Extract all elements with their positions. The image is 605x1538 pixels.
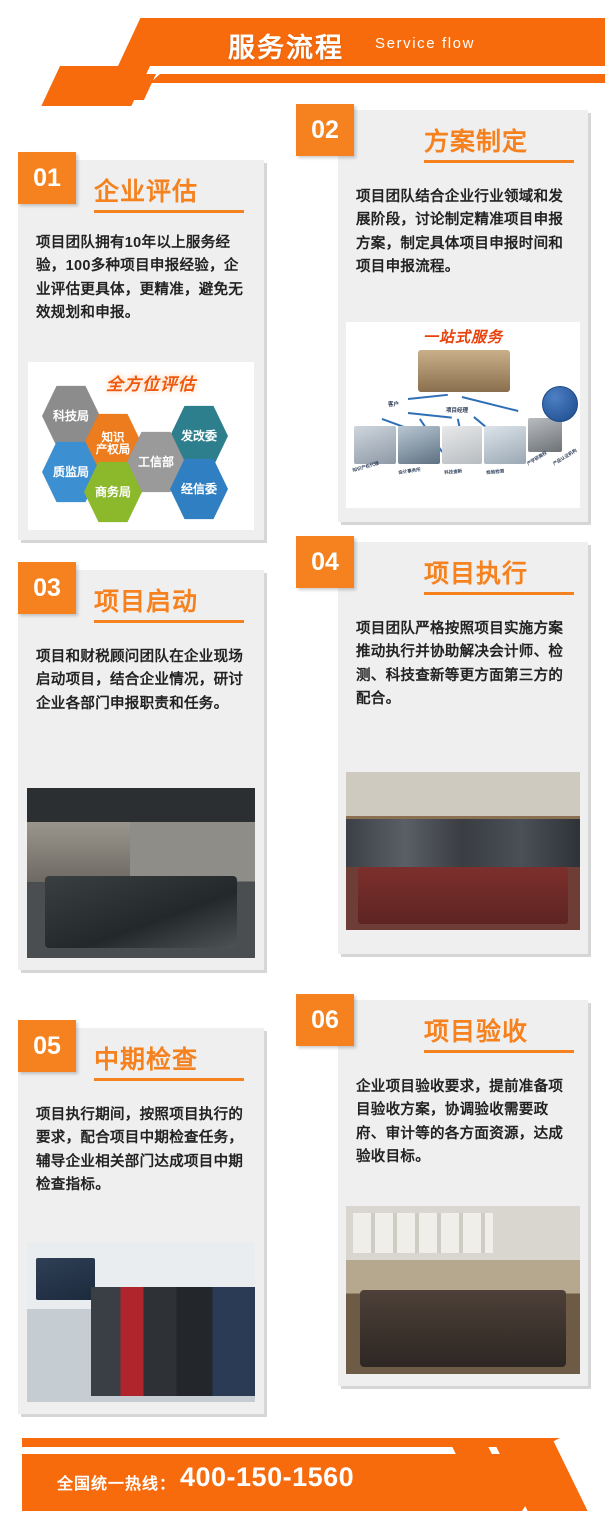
card-body-06: 企业项目验收要求，提前准备项目验收方案，协调验收需要政府、审计等的各方面资源，达…: [356, 1076, 572, 1170]
one-stop-caption-4: 产学研高校: [526, 450, 548, 467]
header-underbar-slant: [84, 74, 156, 100]
one-stop-client-label: 客户: [388, 400, 399, 408]
meeting-room-photo: [27, 788, 255, 958]
one-stop-caption-3: 检验检测: [486, 468, 504, 476]
card-title-rule-01: [94, 210, 244, 213]
one-stop-tile-2: [442, 426, 482, 464]
card-body-05: 项目执行期间，按照项目执行的要求，配合项目中期检查任务，辅导企业相关部门达成项目…: [36, 1104, 248, 1198]
one-stop-center-photo: [418, 350, 510, 392]
one-stop-arrow-2: [462, 396, 519, 412]
hotline-label: 全国统一热线：: [57, 1470, 176, 1494]
step-card-04[interactable]: 项目执行 项目团队严格按照项目实施方案推动执行并协助解决会计师、检测、科技查新等…: [338, 542, 588, 954]
card-title-03: 项目启动: [94, 582, 198, 618]
step-badge-05: 05: [18, 1020, 76, 1072]
one-stop-caption-2: 科技查新: [444, 468, 462, 476]
one-stop-service-diagram: 一站式服务 客户 项目经理 知识产权代理 会计事务所 科技查新 检验检测 产学研…: [346, 322, 580, 508]
card-body-03: 项目和财税顾问团队在企业现场启动项目，结合企业情况，研讨企业各部门申报职责和任务…: [36, 646, 248, 716]
card-title-02: 方案制定: [424, 122, 528, 158]
header-underbar: [150, 74, 605, 83]
workshop-photo: [346, 772, 580, 930]
step-badge-06: 06: [296, 994, 354, 1046]
card-title-rule-05: [94, 1078, 244, 1081]
step-badge-03: 03: [18, 562, 76, 614]
step-card-01[interactable]: 企业评估 项目团队拥有10年以上服务经验，100多种项目申报经验，企业评估更具体…: [18, 160, 264, 540]
one-stop-center-label: 项目经理: [446, 406, 468, 414]
one-stop-arrow-0: [408, 394, 448, 400]
card-title-01: 企业评估: [94, 172, 198, 208]
one-stop-tile-1: [398, 426, 440, 464]
conference-photo: [346, 1206, 580, 1374]
step-badge-02: 02: [296, 104, 354, 156]
card-title-06: 项目验收: [424, 1012, 528, 1048]
one-stop-title: 一站式服务: [346, 326, 580, 347]
hex-diagram-title: 全方位评估: [106, 370, 196, 395]
one-stop-tile-0: [354, 426, 396, 464]
card-body-04: 项目团队严格按照项目实施方案推动执行并协助解决会计师、检测、科技查新等更方面第三…: [356, 618, 572, 712]
hex-diagram: 全方位评估 科技局 知识 产权局 发改委 质监局 工信部 商务局 经信委: [28, 362, 254, 530]
card-body-02: 项目团队结合企业行业领域和发展阶段，讨论制定精准项目申报方案，制定具体项目申报时…: [356, 186, 572, 280]
site-visit-photo: [27, 1242, 255, 1402]
one-stop-iso-badge: [542, 386, 578, 422]
one-stop-tile-4: [528, 418, 562, 452]
hotline-number[interactable]: 400-150-1560: [180, 1462, 354, 1493]
page-footer: 全国统一热线： 400-150-1560: [0, 1400, 605, 1538]
step-badge-04: 04: [296, 536, 354, 588]
page-subtitle: Service flow: [375, 35, 475, 52]
page-title: 服务流程: [228, 26, 344, 65]
card-title-05: 中期检查: [94, 1040, 198, 1076]
card-body-01: 项目团队拥有10年以上服务经验，100多种项目申报经验，企业评估更具体，更精准，…: [36, 232, 248, 326]
step-card-03[interactable]: 项目启动 项目和财税顾问团队在企业现场启动项目，结合企业情况，研讨企业各部门申报…: [18, 570, 264, 970]
step-card-06[interactable]: 项目验收 企业项目验收要求，提前准备项目验收方案，协调验收需要政府、审计等的各方…: [338, 1000, 588, 1386]
card-title-rule-02: [424, 160, 574, 163]
footer-thin-bar: [22, 1438, 560, 1447]
card-title-rule-03: [94, 620, 244, 623]
step-badge-01: 01: [18, 152, 76, 204]
card-title-rule-04: [424, 592, 574, 595]
page-header: 服务流程 Service flow: [0, 0, 605, 100]
one-stop-tile-3: [484, 426, 526, 464]
step-card-05[interactable]: 中期检查 项目执行期间，按照项目执行的要求，配合项目中期检查任务，辅导企业相关部…: [18, 1028, 264, 1414]
one-stop-caption-1: 会计事务所: [398, 467, 421, 476]
card-title-rule-06: [424, 1050, 574, 1053]
card-title-04: 项目执行: [424, 554, 528, 590]
step-card-02[interactable]: 方案制定 项目团队结合企业行业领域和发展阶段，讨论制定精准项目申报方案，制定具体…: [338, 110, 588, 522]
header-bar: [140, 18, 605, 66]
